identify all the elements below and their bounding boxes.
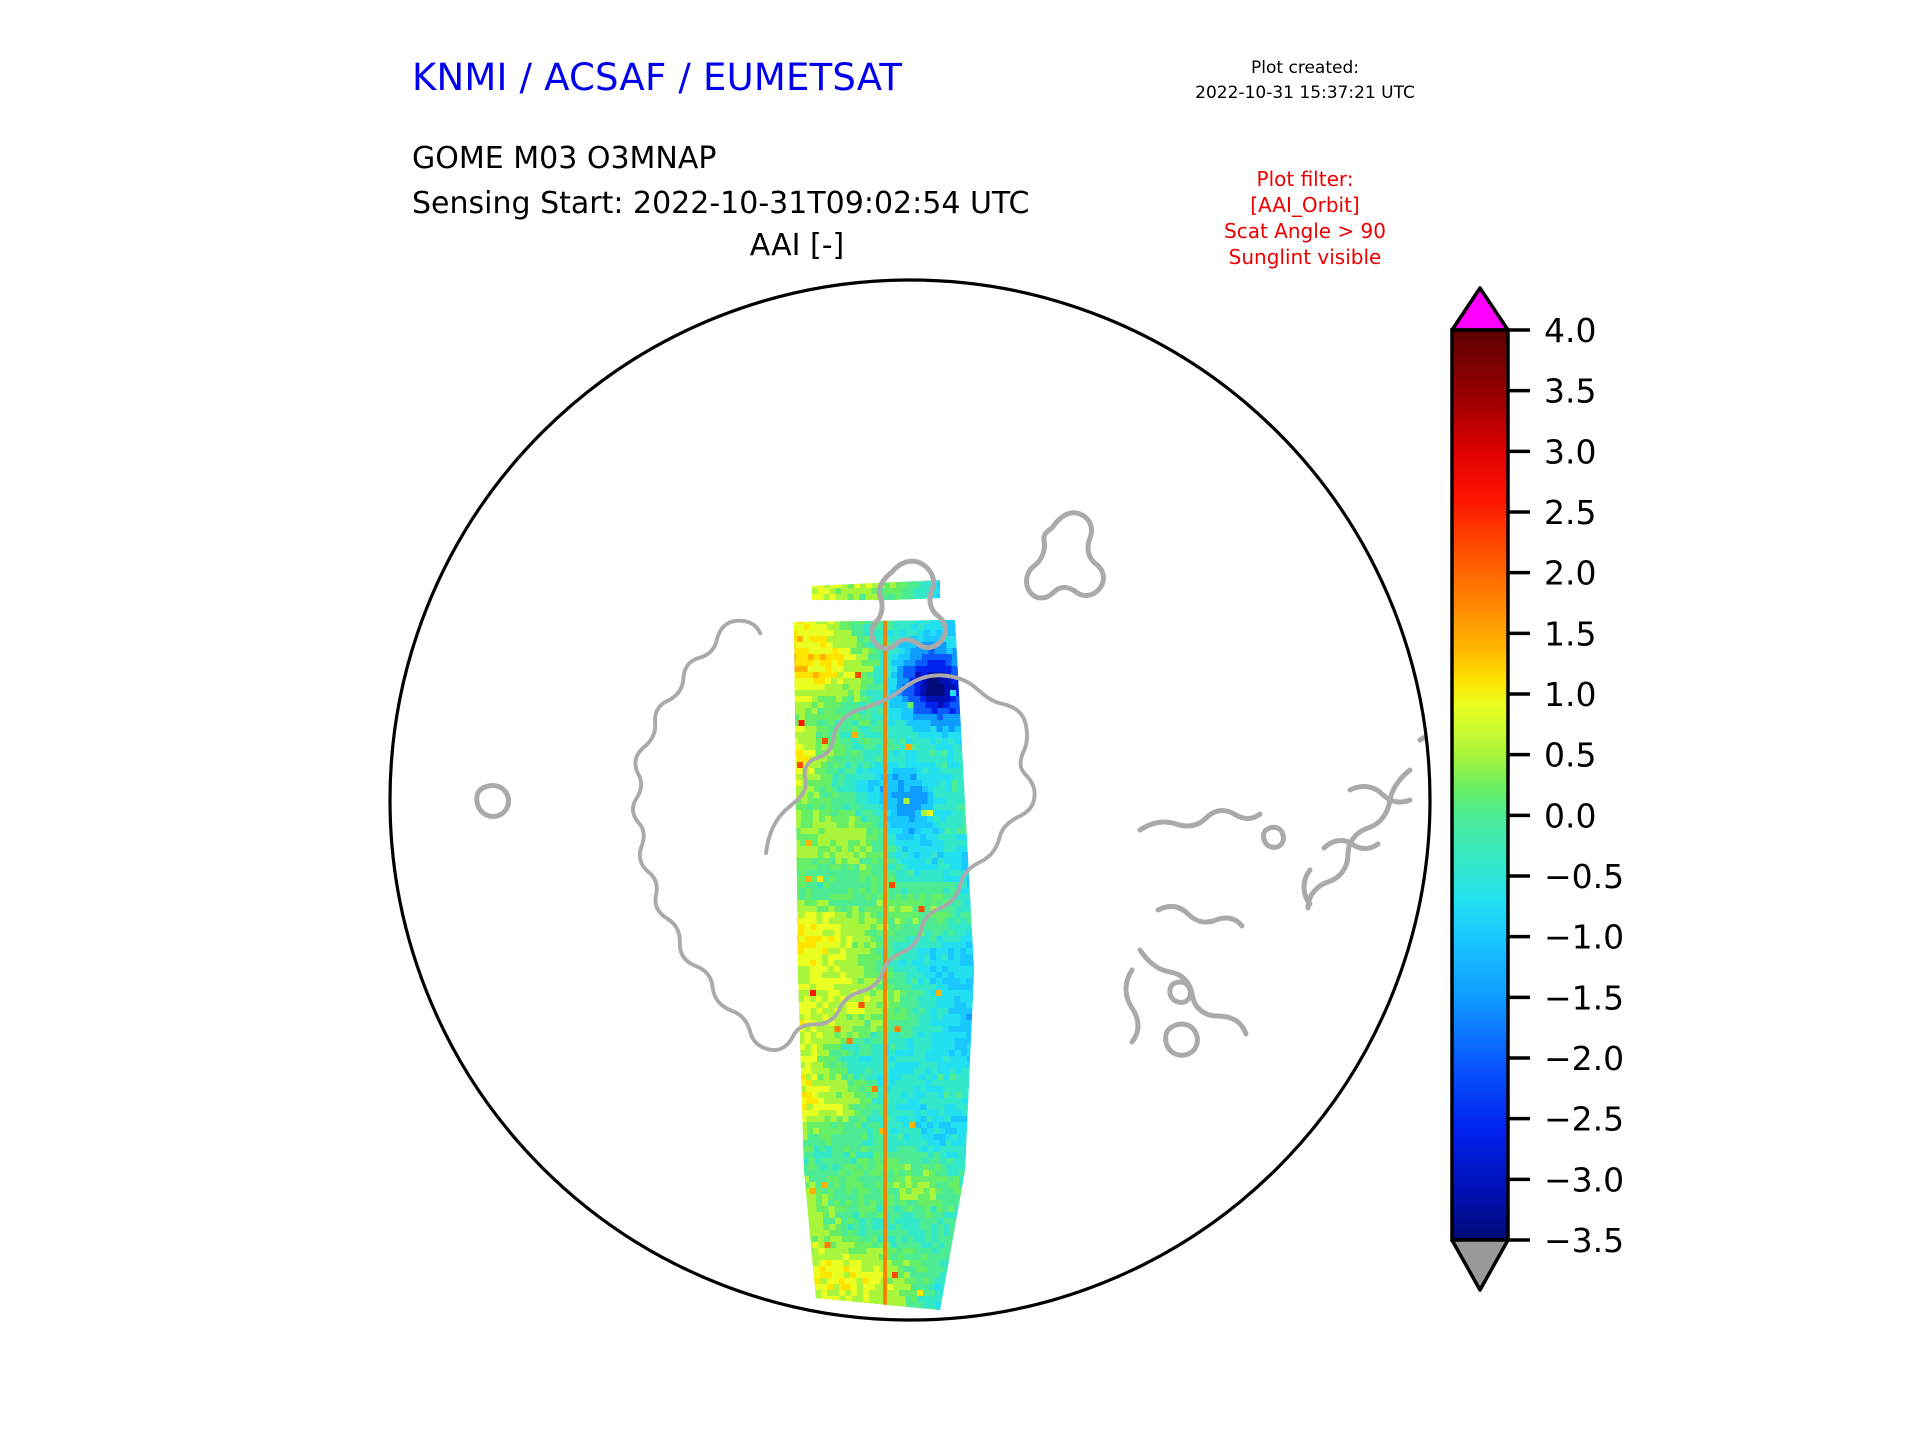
plot-created-label: Plot created: — [1160, 56, 1450, 81]
filter-line-1: [AAI_Orbit] — [1160, 192, 1450, 218]
colorbar-tick-label: 2.5 — [1544, 493, 1596, 532]
colorbar-tick-label: −1.5 — [1544, 978, 1624, 1017]
colorbar-tick-label: 3.5 — [1544, 372, 1596, 411]
colorbar-tick-label: −1.0 — [1544, 918, 1624, 957]
instrument-product-line: GOME M03 O3MNAP — [412, 136, 1029, 181]
colorbar-tick-label: −3.5 — [1544, 1221, 1624, 1260]
colorbar-tick-label: −2.5 — [1544, 1100, 1624, 1139]
filter-line-3: Sunglint visible — [1160, 244, 1450, 270]
colorbar-under-arrow — [1452, 1240, 1508, 1290]
colorbar-tick-label: 0.0 — [1544, 796, 1596, 835]
colorbar-tick-label: −2.0 — [1544, 1039, 1624, 1078]
colorbar-tick-label: 0.5 — [1544, 736, 1596, 775]
polar-map — [380, 270, 1440, 1330]
colorbar-tick-label: 4.0 — [1544, 311, 1596, 350]
filter-line-0: Plot filter: — [1160, 166, 1450, 192]
nadir-line — [884, 600, 887, 1320]
colorbar-tick-label: −0.5 — [1544, 857, 1624, 896]
plot-created-timestamp: 2022-10-31 15:37:21 UTC — [1160, 81, 1450, 106]
colorbar-tick-label: 1.5 — [1544, 614, 1596, 653]
colorbar-tick-label: 1.0 — [1544, 675, 1596, 714]
colorbar-gradient — [1452, 330, 1508, 1240]
filter-line-2: Scat Angle > 90 — [1160, 218, 1450, 244]
colorbar-over-arrow — [1452, 288, 1508, 330]
sensing-start-line: Sensing Start: 2022-10-31T09:02:54 UTC — [412, 181, 1029, 226]
instrument-info-block: GOME M03 O3MNAP Sensing Start: 2022-10-3… — [412, 136, 1029, 226]
product-title: AAI [-] — [412, 228, 1182, 263]
colorbar: 4.03.53.02.52.01.51.00.50.0−0.5−1.0−1.5−… — [1440, 280, 1700, 1340]
colorbar-tick-label: 2.0 — [1544, 554, 1596, 593]
plot-filter-block: Plot filter: [AAI_Orbit] Scat Angle > 90… — [1160, 166, 1450, 270]
organization-title: KNMI / ACSAF / EUMETSAT — [412, 56, 902, 99]
colorbar-ticks: 4.03.53.02.52.01.51.00.50.0−0.5−1.0−1.5−… — [1508, 311, 1624, 1260]
colorbar-tick-label: −3.0 — [1544, 1160, 1624, 1199]
colorbar-tick-label: 3.0 — [1544, 432, 1596, 471]
plot-created-block: Plot created: 2022-10-31 15:37:21 UTC — [1160, 56, 1450, 106]
